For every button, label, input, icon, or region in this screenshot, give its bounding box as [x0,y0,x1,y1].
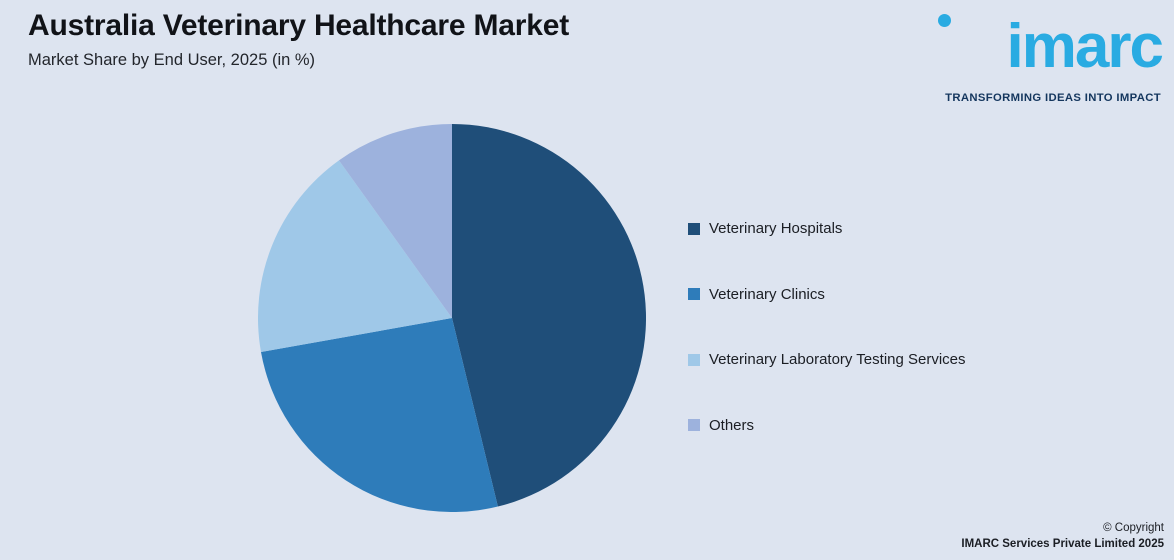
pie-chart [258,124,646,512]
legend-item[interactable]: Veterinary Laboratory Testing Services [688,327,1088,393]
legend-item[interactable]: Veterinary Clinics [688,262,1088,328]
logo-dot-icon [938,14,951,27]
chart-page: Australia Veterinary Healthcare Market M… [0,0,1174,560]
logo-wordmark: imarc [1007,16,1162,78]
legend-swatch-icon [688,419,700,431]
chart-legend: Veterinary HospitalsVeterinary ClinicsVe… [688,196,1088,458]
logo-tagline: TRANSFORMING IDEAS INTO IMPACT [945,92,1161,104]
page-subtitle: Market Share by End User, 2025 (in %) [28,49,748,71]
legend-item[interactable]: Others [688,393,1088,459]
legend-item-label: Others [709,417,754,434]
page-title: Australia Veterinary Healthcare Market [28,6,748,46]
legend-item-label: Veterinary Laboratory Testing Services [709,351,966,368]
legend-item-label: Veterinary Clinics [709,286,825,303]
legend-swatch-icon [688,223,700,235]
legend-item-label: Veterinary Hospitals [709,220,842,237]
pie-chart-svg [258,124,646,512]
legend-swatch-icon [688,288,700,300]
copyright-notice: © Copyright IMARC Services Private Limit… [961,520,1164,552]
copyright-line-2: IMARC Services Private Limited 2025 [961,536,1164,552]
copyright-line-1: © Copyright [961,520,1164,536]
imarc-logo: imarc TRANSFORMING IDEAS INTO IMPACT [924,8,1164,108]
header: Australia Veterinary Healthcare Market M… [28,6,748,71]
legend-item[interactable]: Veterinary Hospitals [688,196,1088,262]
legend-swatch-icon [688,354,700,366]
